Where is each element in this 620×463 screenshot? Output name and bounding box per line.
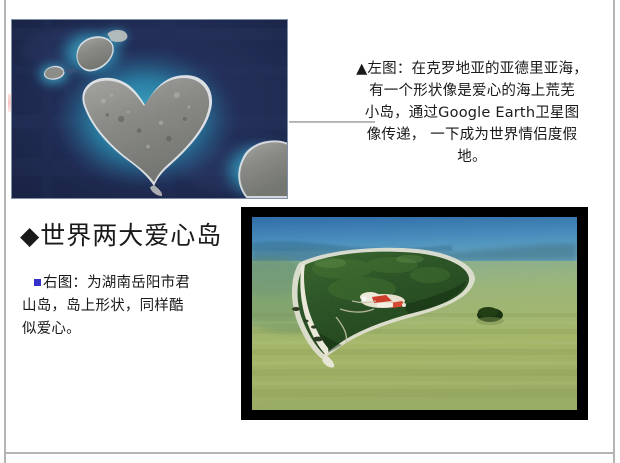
caption-bottom-left-text-1: 右图：为湖南岳阳市君 [43,275,190,291]
heart-island-satellite-graphic [12,20,287,198]
caption-left-image-description: ▲左图：在克罗地亚的亚德里亚海， 有一个形状像是爱心的海上荒芜 小岛，通过Goo… [336,58,608,168]
junshan-island-photo-inner [252,217,577,410]
caption-bottom-left-line-2: 山岛，岛上形状，同样酷 [22,295,230,318]
junshan-island-aerial-photo[interactable] [241,207,588,420]
heart-island-satellite-photo[interactable] [11,19,288,199]
caption-right-line-3: 小岛，通过Google Earth卫星图 [336,102,608,124]
caption-right-line-5: 地。 [336,146,608,168]
slide-frame-right [613,0,615,463]
slide-title: ◆世界两大爱心岛 [20,219,222,253]
slide-canvas: ▲左图：在克罗地亚的亚德里亚海， 有一个形状像是爱心的海上荒芜 小岛，通过Goo… [0,0,620,463]
caption-bottom-left-line-3: 似爱心。 [22,318,230,341]
junshan-island-aerial-graphic [252,217,577,410]
slide-frame-bottom [4,452,615,454]
caption-right-image-description: 右图：为湖南岳阳市君 山岛，岛上形状，同样酷 似爱心。 [22,272,230,341]
caption-bottom-left-line-1: 右图：为湖南岳阳市君 [22,272,230,295]
caption-right-line-4: 像传递， 一下成为世界情侣度假 [336,124,608,146]
caption-right-line-2: 有一个形状像是爱心的海上荒芜 [336,80,608,102]
caption-right-line-1: ▲左图：在克罗地亚的亚德里亚海， [336,58,608,80]
square-bullet-icon [34,279,41,286]
slide-frame-left [4,0,6,463]
